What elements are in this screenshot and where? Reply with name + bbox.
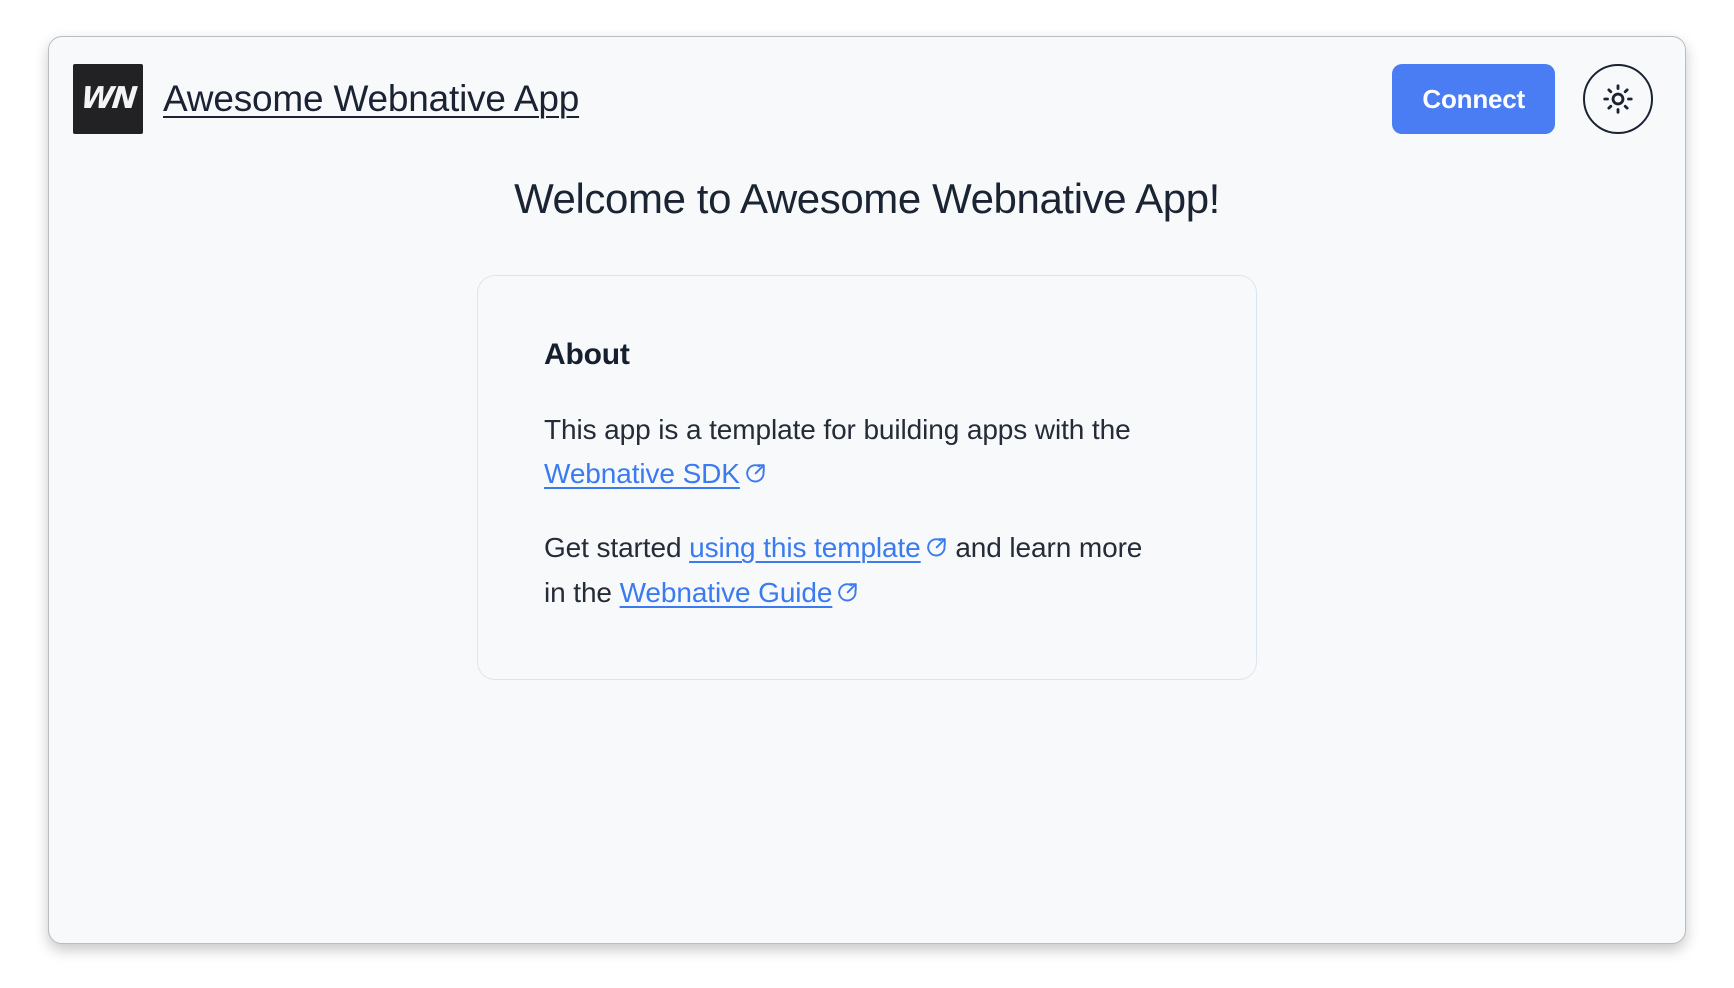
webnative-guide-link[interactable]: Webnative Guide (620, 577, 833, 608)
about-text-2a: Get started (544, 532, 689, 563)
connect-button[interactable]: Connect (1392, 64, 1555, 134)
about-card: About This app is a template for buildin… (477, 275, 1257, 680)
brand[interactable]: WN Awesome Webnative App (73, 64, 579, 134)
sun-icon (1600, 81, 1636, 117)
about-paragraph-2: Get started using this template and lear… (544, 526, 1144, 614)
about-paragraph-1: This app is a template for building apps… (544, 408, 1144, 496)
about-text-1a: This app is a template for building apps… (544, 414, 1131, 445)
about-heading: About (544, 338, 1256, 372)
logo-text: WN (79, 84, 136, 114)
app-window: WN Awesome Webnative App Connect (48, 36, 1686, 944)
app-main: Welcome to Awesome Webnative App! About … (49, 161, 1685, 680)
app-title-link[interactable]: Awesome Webnative App (163, 78, 579, 120)
header-actions: Connect (1392, 64, 1653, 134)
external-link-icon[interactable] (836, 581, 859, 604)
app-header: WN Awesome Webnative App Connect (49, 37, 1685, 161)
theme-toggle-button[interactable] (1583, 64, 1653, 134)
using-this-template-link[interactable]: using this template (689, 532, 921, 563)
external-link-icon[interactable] (925, 536, 948, 559)
external-link-icon[interactable] (744, 462, 767, 485)
page-title: Welcome to Awesome Webnative App! (49, 175, 1685, 223)
webnative-sdk-link[interactable]: Webnative SDK (544, 458, 740, 489)
page-root: WN Awesome Webnative App Connect (0, 0, 1734, 988)
webnative-logo-icon: WN (73, 64, 143, 134)
